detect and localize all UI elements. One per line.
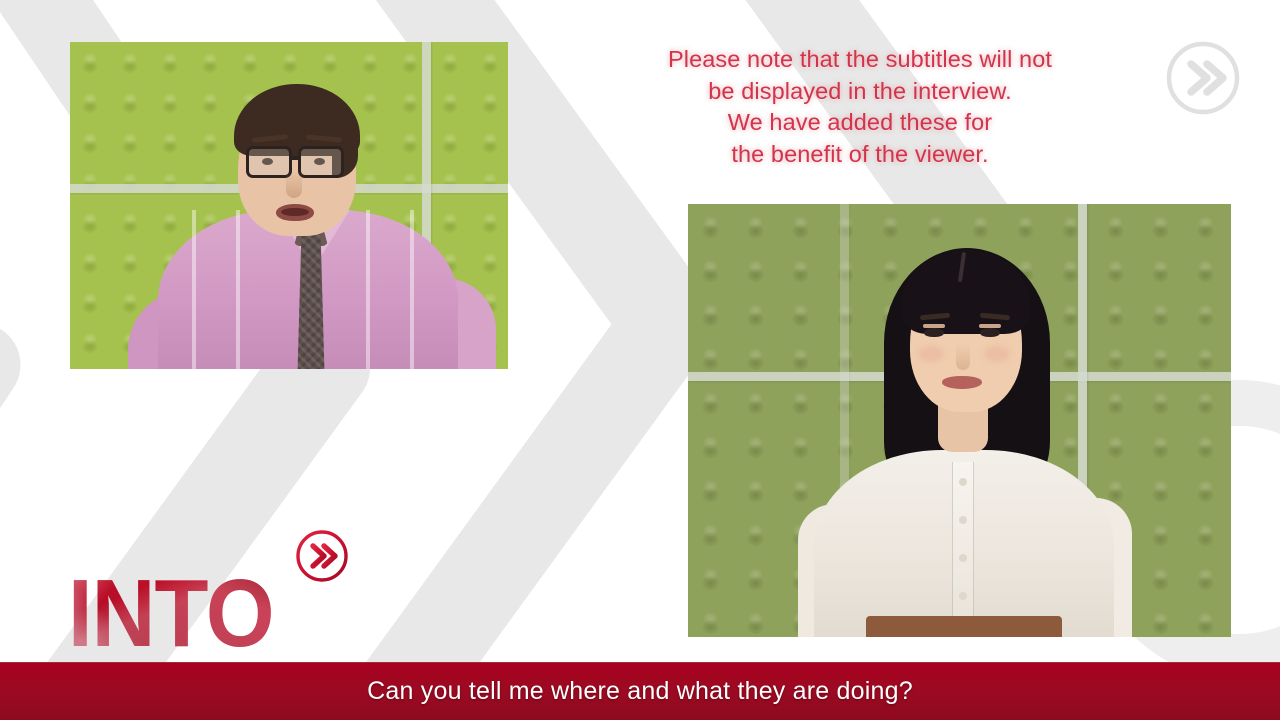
note-line: We have added these for [560, 107, 1160, 139]
eyeglasses-lens-right [298, 146, 344, 178]
double-chevron-circle-icon [294, 528, 350, 584]
shirt-stripe [366, 210, 370, 369]
subtitle-bar: Can you tell me where and what they are … [0, 662, 1280, 720]
blouse-button [959, 516, 967, 524]
shirt-stripe [192, 210, 196, 369]
note-line: be displayed in the interview. [560, 76, 1160, 108]
eyelid-right [979, 324, 1001, 328]
cheek-right [984, 346, 1010, 362]
subtitle-disclaimer-note: Please note that the subtitles will not … [560, 44, 1160, 170]
into-logo[interactable]: INTO [68, 528, 348, 646]
into-logo-wordmark: INTO [68, 566, 274, 662]
mouth-inner [281, 208, 309, 216]
shirt-stripe [236, 210, 240, 369]
nose [286, 172, 302, 198]
subtitle-text: Can you tell me where and what they are … [367, 677, 913, 706]
blouse-button [959, 592, 967, 600]
nose [956, 344, 970, 370]
eye-left [924, 328, 944, 337]
cheek-left [918, 346, 944, 362]
slide-stage: Please note that the subtitles will not … [0, 0, 1280, 720]
eyelid-left [923, 324, 945, 328]
belt [866, 616, 1062, 637]
double-chevron-circle-icon [1163, 38, 1243, 118]
blouse-placket [952, 462, 974, 637]
blouse-button [959, 478, 967, 486]
blouse-button [959, 554, 967, 562]
mouth [942, 376, 982, 389]
video-panel-interviewer[interactable] [70, 42, 508, 369]
eyeglasses-bridge [291, 156, 300, 160]
eye-right [980, 328, 1000, 337]
note-line: Please note that the subtitles will not [560, 44, 1160, 76]
note-line: the benefit of the viewer. [560, 139, 1160, 171]
video-panel-interviewee[interactable] [688, 204, 1231, 637]
shirt-stripe [410, 210, 414, 369]
watermark-chevron-bar [0, 307, 37, 710]
